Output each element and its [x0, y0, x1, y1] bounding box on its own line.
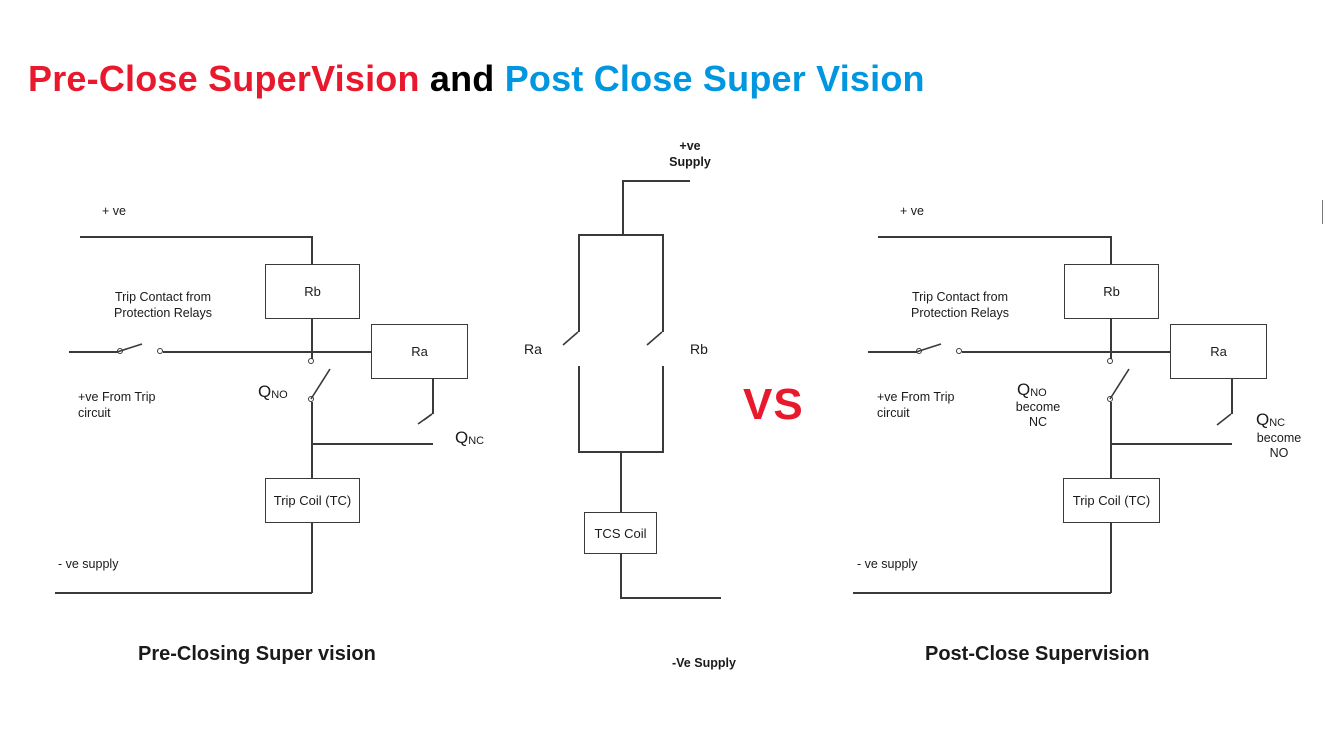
title-part-and: and [430, 58, 495, 99]
left-trip-source-label: +ve From Trip circuit [78, 390, 155, 421]
left-trip-contact-node-a [117, 348, 123, 354]
left-qno-label: QNO [258, 382, 288, 402]
vs-label: VS [743, 380, 804, 430]
page-title: Pre-Close SuperVision and Post Close Sup… [28, 58, 925, 100]
left-ra-to-qnc-wire [432, 379, 434, 414]
left-qnc-blade [418, 414, 432, 424]
right-qno-to-bus-wire [1110, 402, 1112, 444]
mid-rb-blade [647, 332, 662, 345]
right-positive-rail-wire [878, 236, 1110, 238]
right-trip-contact-node-b [956, 348, 962, 354]
slide-canvas: Pre-Close SuperVision and Post Close Sup… [0, 0, 1326, 730]
right-positive-rail-label: + ve [900, 204, 924, 220]
left-qnc-label: QNC [455, 428, 484, 448]
mid-right-branch-upper-wire [662, 234, 664, 332]
left-bottom-bus-wire [311, 443, 433, 445]
mid-top-down-wire [622, 180, 624, 235]
left-trip-contact-in-wire [69, 351, 120, 353]
right-negative-rail-label: - ve supply [857, 557, 917, 573]
left-trip-contact-label: Trip Contact from Protection Relays [103, 290, 223, 321]
left-caption: Pre-Closing Super vision [138, 643, 376, 666]
mid-contact-left-label: Ra [524, 341, 542, 359]
mid-left-branch-upper-wire [578, 234, 580, 332]
right-trip-contact-node-a [916, 348, 922, 354]
right-bus-to-tc-wire [1110, 443, 1112, 478]
right-qnc-note: become NO [1248, 431, 1310, 461]
right-trip-contact-label: Trip Contact from Protection Relays [900, 290, 1020, 321]
right-qno-note: become NC [1008, 400, 1068, 430]
left-trip-contact-node-b [157, 348, 163, 354]
left-trip-contact-out-wire [163, 351, 311, 353]
right-qnc-label: QNC [1256, 410, 1285, 430]
mid-box-tcs-coil: TCS Coil [584, 512, 657, 554]
right-bottom-bus-wire [1110, 443, 1232, 445]
mid-ra-blade [563, 332, 578, 345]
left-negative-rail-label: - ve supply [58, 557, 118, 573]
slide-edge-tick [1322, 200, 1323, 224]
mid-right-branch-lower-wire [662, 366, 664, 452]
left-box-rb: Rb [265, 264, 360, 319]
mid-neg-supply-wire [620, 597, 721, 599]
right-trip-contact-out-wire [962, 351, 1110, 353]
left-qno-blade [311, 369, 330, 399]
left-qno-node-top [308, 358, 314, 364]
right-tc-to-neg-wire [1110, 523, 1112, 593]
right-trip-source-label: +ve From Trip circuit [877, 390, 954, 421]
mid-supply-bottom-label: -Ve Supply [672, 656, 736, 672]
mid-top-supply-wire [622, 180, 690, 182]
mid-contact-right-label: Rb [690, 341, 708, 359]
left-junction-to-ra-wire [311, 351, 371, 353]
left-positive-rail-label: + ve [102, 204, 126, 220]
right-rb-to-junction-wire [1110, 319, 1112, 361]
left-tc-to-neg-wire [311, 523, 313, 593]
left-qno-to-bus-wire [311, 402, 313, 444]
right-qno-label: QNO [1017, 380, 1047, 400]
right-qno-node-top [1107, 358, 1113, 364]
left-qnc-blade-stub [424, 414, 432, 420]
left-negative-rail-wire [55, 592, 312, 594]
left-rail-to-rb-wire [311, 236, 313, 264]
right-trip-contact-in-wire [868, 351, 919, 353]
right-junction-to-ra-wire [1110, 351, 1170, 353]
right-ra-to-qnc-wire [1231, 379, 1233, 414]
right-box-trip-coil: Trip Coil (TC) [1063, 478, 1160, 523]
left-box-trip-coil: Trip Coil (TC) [265, 478, 360, 523]
right-qno-blade [1110, 369, 1129, 399]
mid-supply-top-label: +ve Supply [655, 139, 725, 170]
right-qnc-blade [1217, 414, 1231, 425]
right-box-rb: Rb [1064, 264, 1159, 319]
title-part-pre-close: Pre-Close SuperVision [28, 58, 420, 99]
mid-left-branch-lower-wire [578, 366, 580, 452]
mid-bus-to-tcs-wire [620, 451, 622, 512]
right-caption: Post-Close Supervision [925, 643, 1150, 666]
mid-top-bus-wire [578, 234, 664, 236]
right-rail-to-rb-wire [1110, 236, 1112, 264]
left-positive-rail-wire [80, 236, 312, 238]
left-rb-to-junction-wire [311, 319, 313, 361]
left-box-ra: Ra [371, 324, 468, 379]
switch-blades-overlay [0, 0, 1326, 730]
right-box-ra: Ra [1170, 324, 1267, 379]
right-negative-rail-wire [853, 592, 1111, 594]
title-part-post-close: Post Close Super Vision [505, 58, 925, 99]
left-bus-to-tc-wire [311, 443, 313, 478]
mid-tcs-to-neg-wire [620, 554, 622, 598]
